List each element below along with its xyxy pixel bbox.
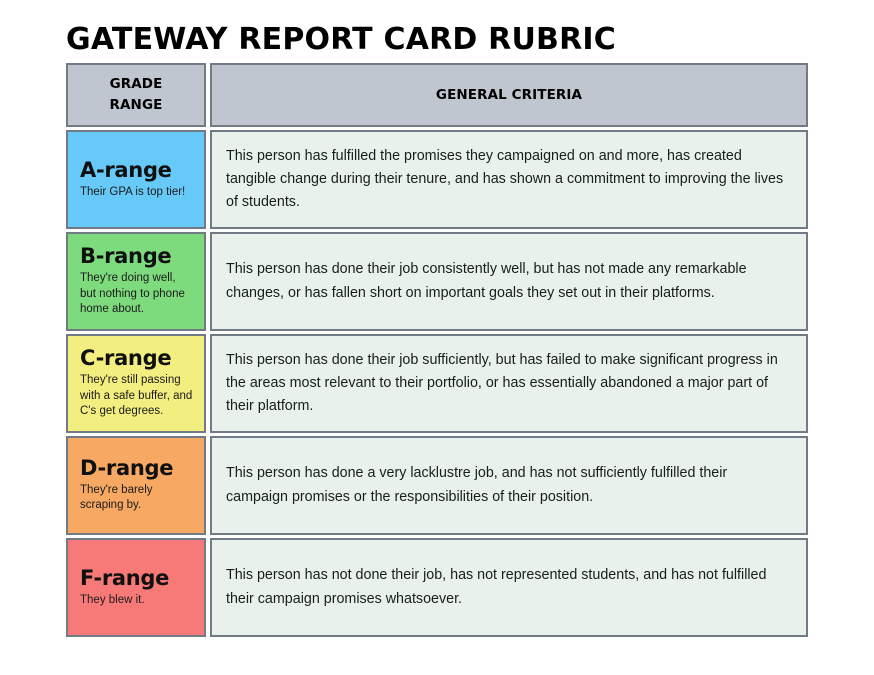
- criteria-text-b-range: This person has done their job consisten…: [226, 258, 792, 304]
- table-row: A-range Their GPA is top tier! This pers…: [66, 130, 808, 229]
- criteria-text-a-range: This person has fulfilled the promises t…: [226, 145, 792, 214]
- criteria-cell-f-range: This person has not done their job, has …: [210, 538, 808, 637]
- page-title: GATEWAY REPORT CARD RUBRIC: [66, 22, 616, 57]
- header-cell-grade-range: GRADE RANGE: [66, 63, 206, 127]
- header-grade-line1: GRADE: [110, 76, 163, 92]
- header-grade-range-label: GRADE RANGE: [110, 74, 163, 116]
- header-grade-line2: RANGE: [110, 97, 163, 113]
- criteria-text-c-range: This person has done their job sufficien…: [226, 349, 792, 418]
- grade-name-a-range: A-range: [80, 159, 194, 183]
- header-general-criteria-label: GENERAL CRITERIA: [436, 85, 582, 106]
- criteria-cell-a-range: This person has fulfilled the promises t…: [210, 130, 808, 229]
- grade-subtitle-f-range: They blew it.: [80, 593, 194, 609]
- grade-name-c-range: C-range: [80, 347, 194, 371]
- grade-cell-f-range: F-range They blew it.: [66, 538, 206, 637]
- table-row: C-range They're still passing with a saf…: [66, 334, 808, 433]
- rubric-page: GATEWAY REPORT CARD RUBRIC GRADE RANGE G…: [0, 0, 874, 675]
- grade-name-b-range: B-range: [80, 245, 194, 269]
- grade-cell-b-range: B-range They're doing well, but nothing …: [66, 232, 206, 331]
- table-row: D-range They're barely scraping by. This…: [66, 436, 808, 535]
- criteria-cell-c-range: This person has done their job sufficien…: [210, 334, 808, 433]
- grade-name-d-range: D-range: [80, 457, 194, 481]
- rubric-table: GRADE RANGE GENERAL CRITERIA A-range The…: [66, 63, 808, 637]
- table-header-row: GRADE RANGE GENERAL CRITERIA: [66, 63, 808, 127]
- header-cell-general-criteria: GENERAL CRITERIA: [210, 63, 808, 127]
- grade-subtitle-a-range: Their GPA is top tier!: [80, 185, 194, 201]
- criteria-text-f-range: This person has not done their job, has …: [226, 564, 792, 610]
- grade-name-f-range: F-range: [80, 567, 194, 591]
- grade-cell-c-range: C-range They're still passing with a saf…: [66, 334, 206, 433]
- grade-cell-d-range: D-range They're barely scraping by.: [66, 436, 206, 535]
- criteria-cell-b-range: This person has done their job consisten…: [210, 232, 808, 331]
- table-row: B-range They're doing well, but nothing …: [66, 232, 808, 331]
- grade-subtitle-d-range: They're barely scraping by.: [80, 483, 194, 514]
- grade-subtitle-b-range: They're doing well, but nothing to phone…: [80, 271, 194, 318]
- grade-subtitle-c-range: They're still passing with a safe buffer…: [80, 373, 194, 420]
- table-row: F-range They blew it. This person has no…: [66, 538, 808, 637]
- criteria-cell-d-range: This person has done a very lacklustre j…: [210, 436, 808, 535]
- grade-cell-a-range: A-range Their GPA is top tier!: [66, 130, 206, 229]
- criteria-text-d-range: This person has done a very lacklustre j…: [226, 462, 792, 508]
